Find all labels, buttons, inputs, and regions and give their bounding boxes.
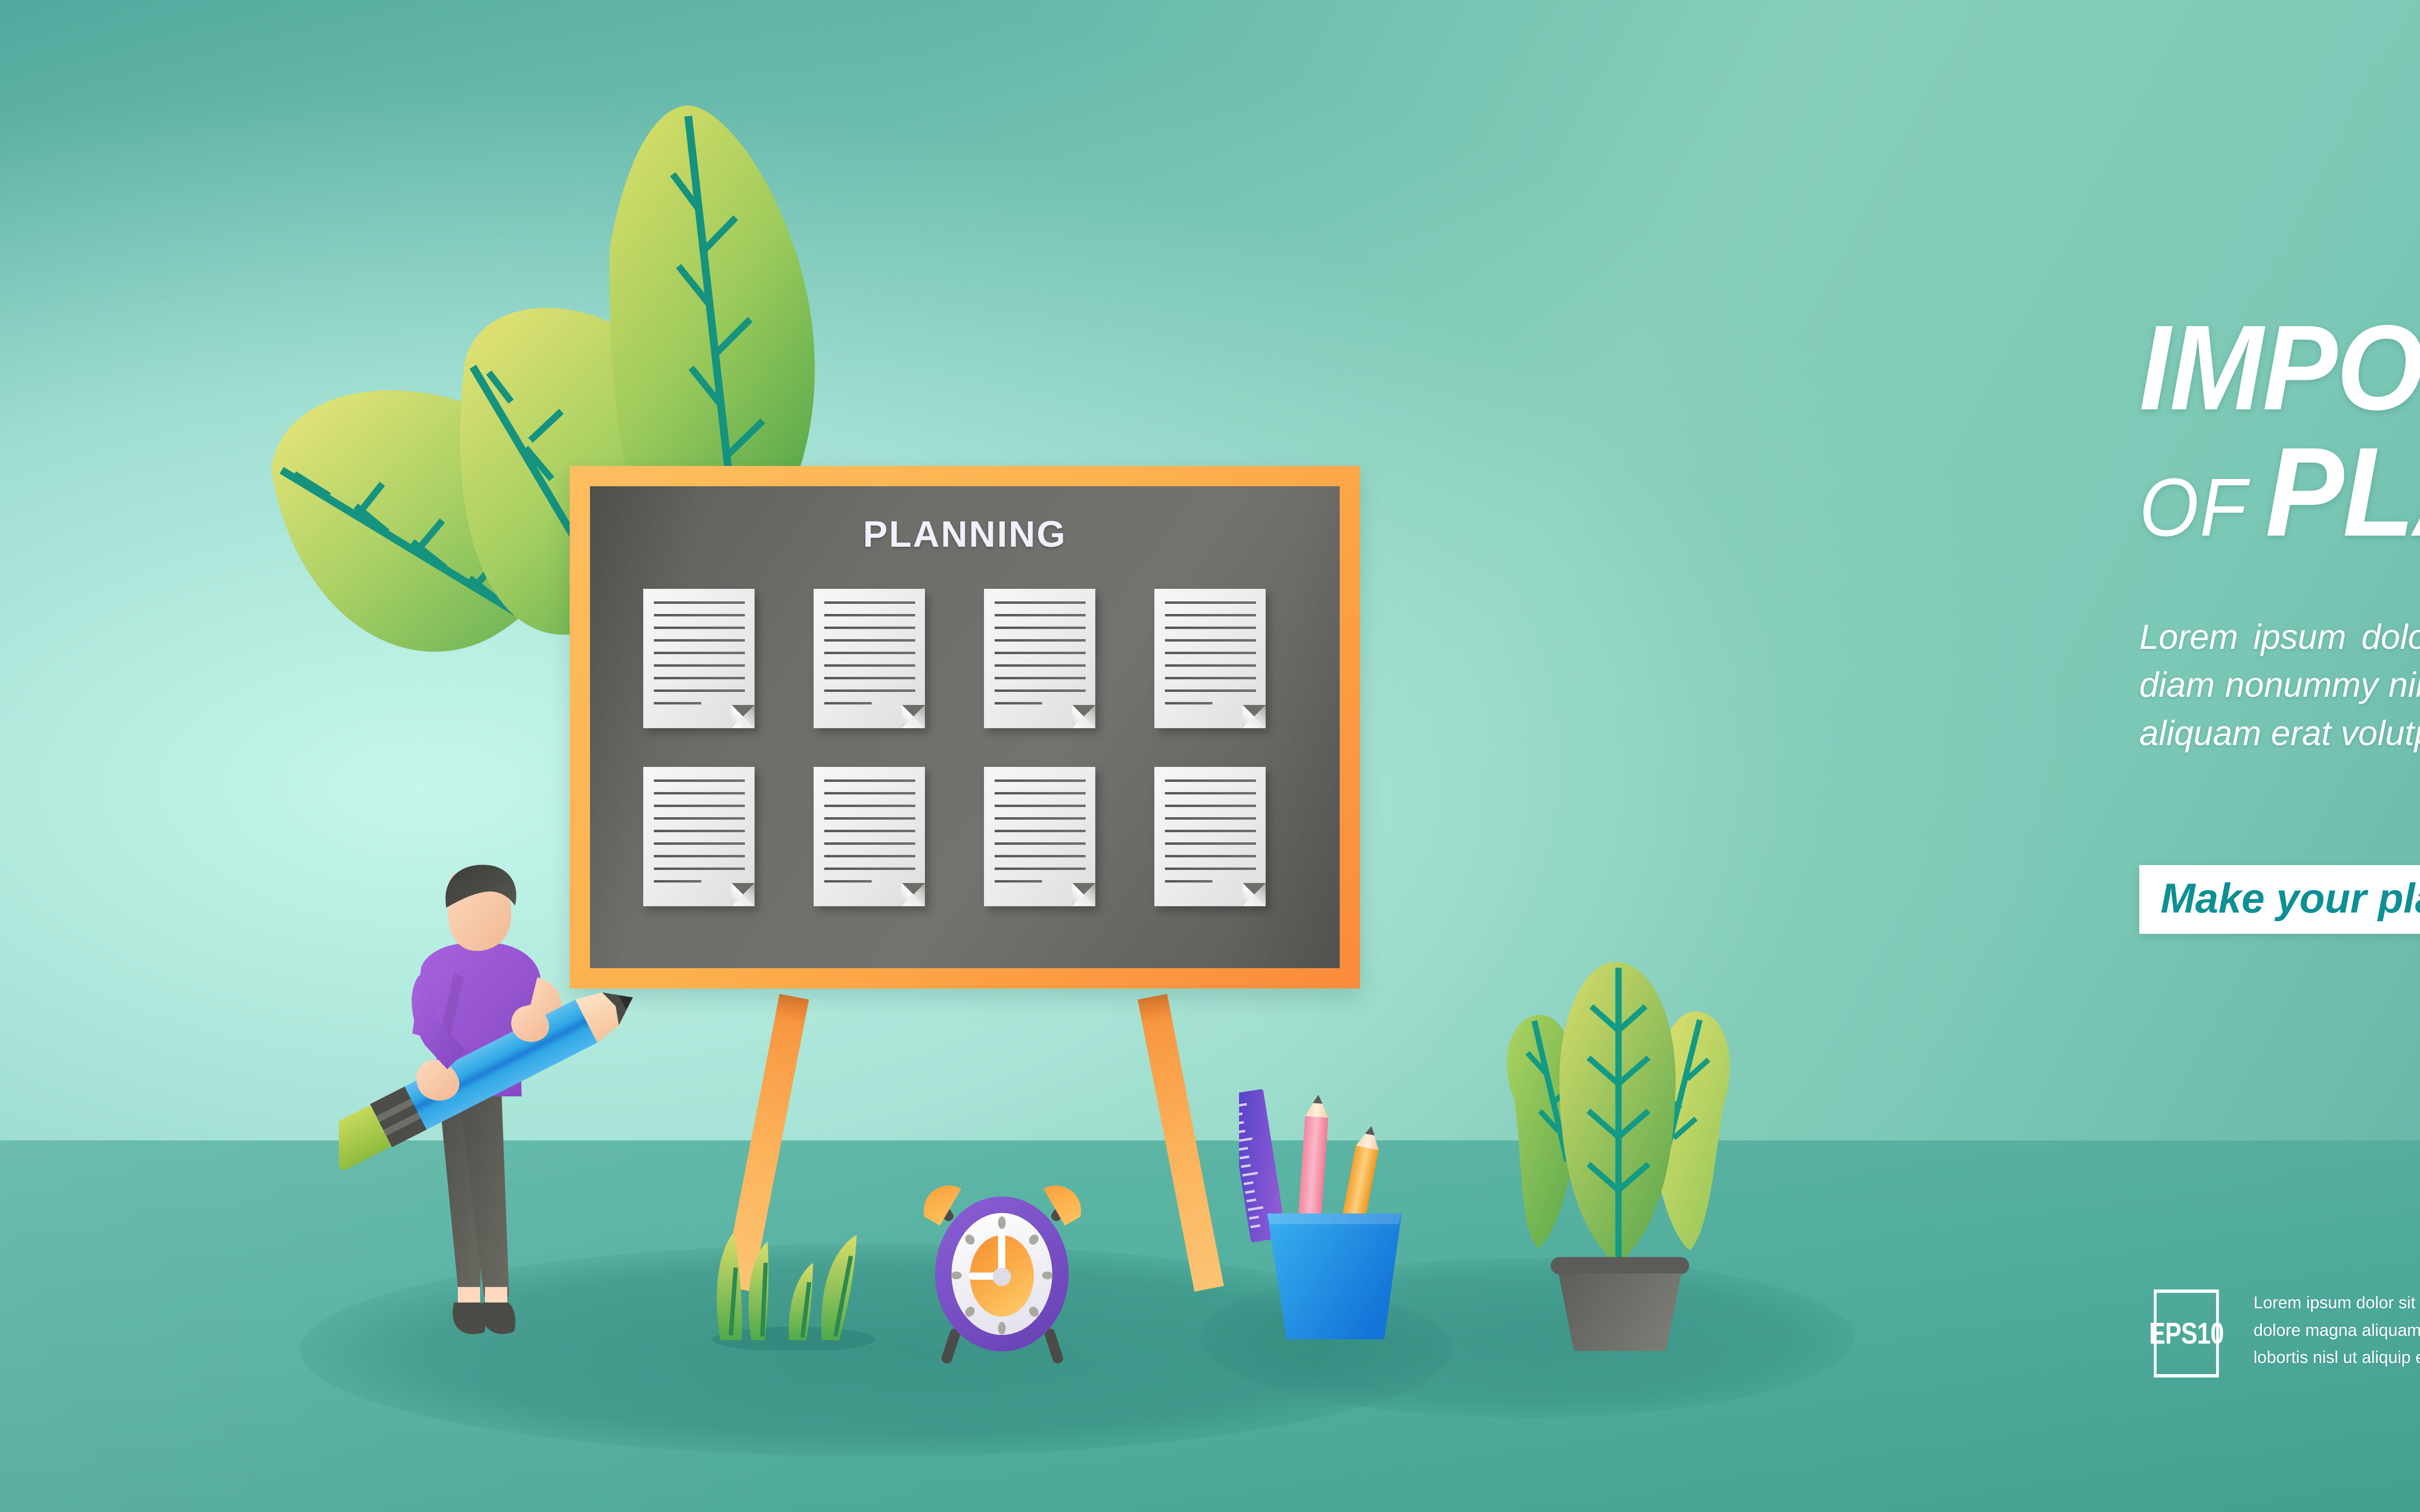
note-fold-icon [1072, 883, 1095, 906]
headline-primary: IMPORTANCE [2139, 310, 2420, 426]
notes-grid [643, 589, 1268, 906]
board-surface: PLANNING [590, 486, 1340, 968]
headline-planning: PLANNING [2265, 429, 2420, 555]
headline-of: OF [2139, 466, 2247, 549]
alarm-clock[interactable] [910, 1168, 1094, 1372]
grass-tuft [697, 1195, 891, 1350]
note-card[interactable] [984, 589, 1095, 728]
note-fold-icon [1242, 883, 1266, 906]
cta-button[interactable]: Make your plans now! [2139, 865, 2420, 934]
note-fold-icon [902, 705, 925, 728]
note-card[interactable] [643, 767, 755, 906]
eps-badge: EPS10 [2154, 1289, 2219, 1377]
note-card[interactable] [984, 767, 1095, 906]
planning-board[interactable]: PLANNING [570, 466, 1360, 988]
footer-block: EPS10 Lorem ipsum dolor sit amet, consec… [2154, 1289, 2420, 1377]
note-card[interactable] [1154, 767, 1266, 906]
potted-plant [1481, 958, 1752, 1360]
note-fold-icon [902, 883, 925, 906]
headline-secondary-row: OF PLANNING [2139, 429, 2420, 555]
board-title: PLANNING [590, 513, 1340, 555]
note-fold-icon [1072, 705, 1095, 728]
pencil-cup[interactable] [1239, 1055, 1433, 1355]
person-with-pencil [339, 861, 649, 1355]
note-card[interactable] [643, 589, 755, 728]
headline-block: IMPORTANCE OF PLANNING Lorem ipsum dolor… [2139, 310, 2420, 934]
note-fold-icon [731, 883, 755, 906]
note-card[interactable] [814, 767, 925, 906]
note-card[interactable] [814, 589, 925, 728]
note-fold-icon [731, 705, 755, 728]
banner-illustration: PLANNING [0, 0, 2420, 1512]
note-card[interactable] [1154, 589, 1266, 728]
note-fold-icon [1242, 705, 1266, 728]
body-paragraph: Lorem ipsum dolor sit amet, consectetuer… [2139, 614, 2420, 758]
footer-fineprint: Lorem ipsum dolor sit amet, consectetuer… [2254, 1289, 2420, 1372]
